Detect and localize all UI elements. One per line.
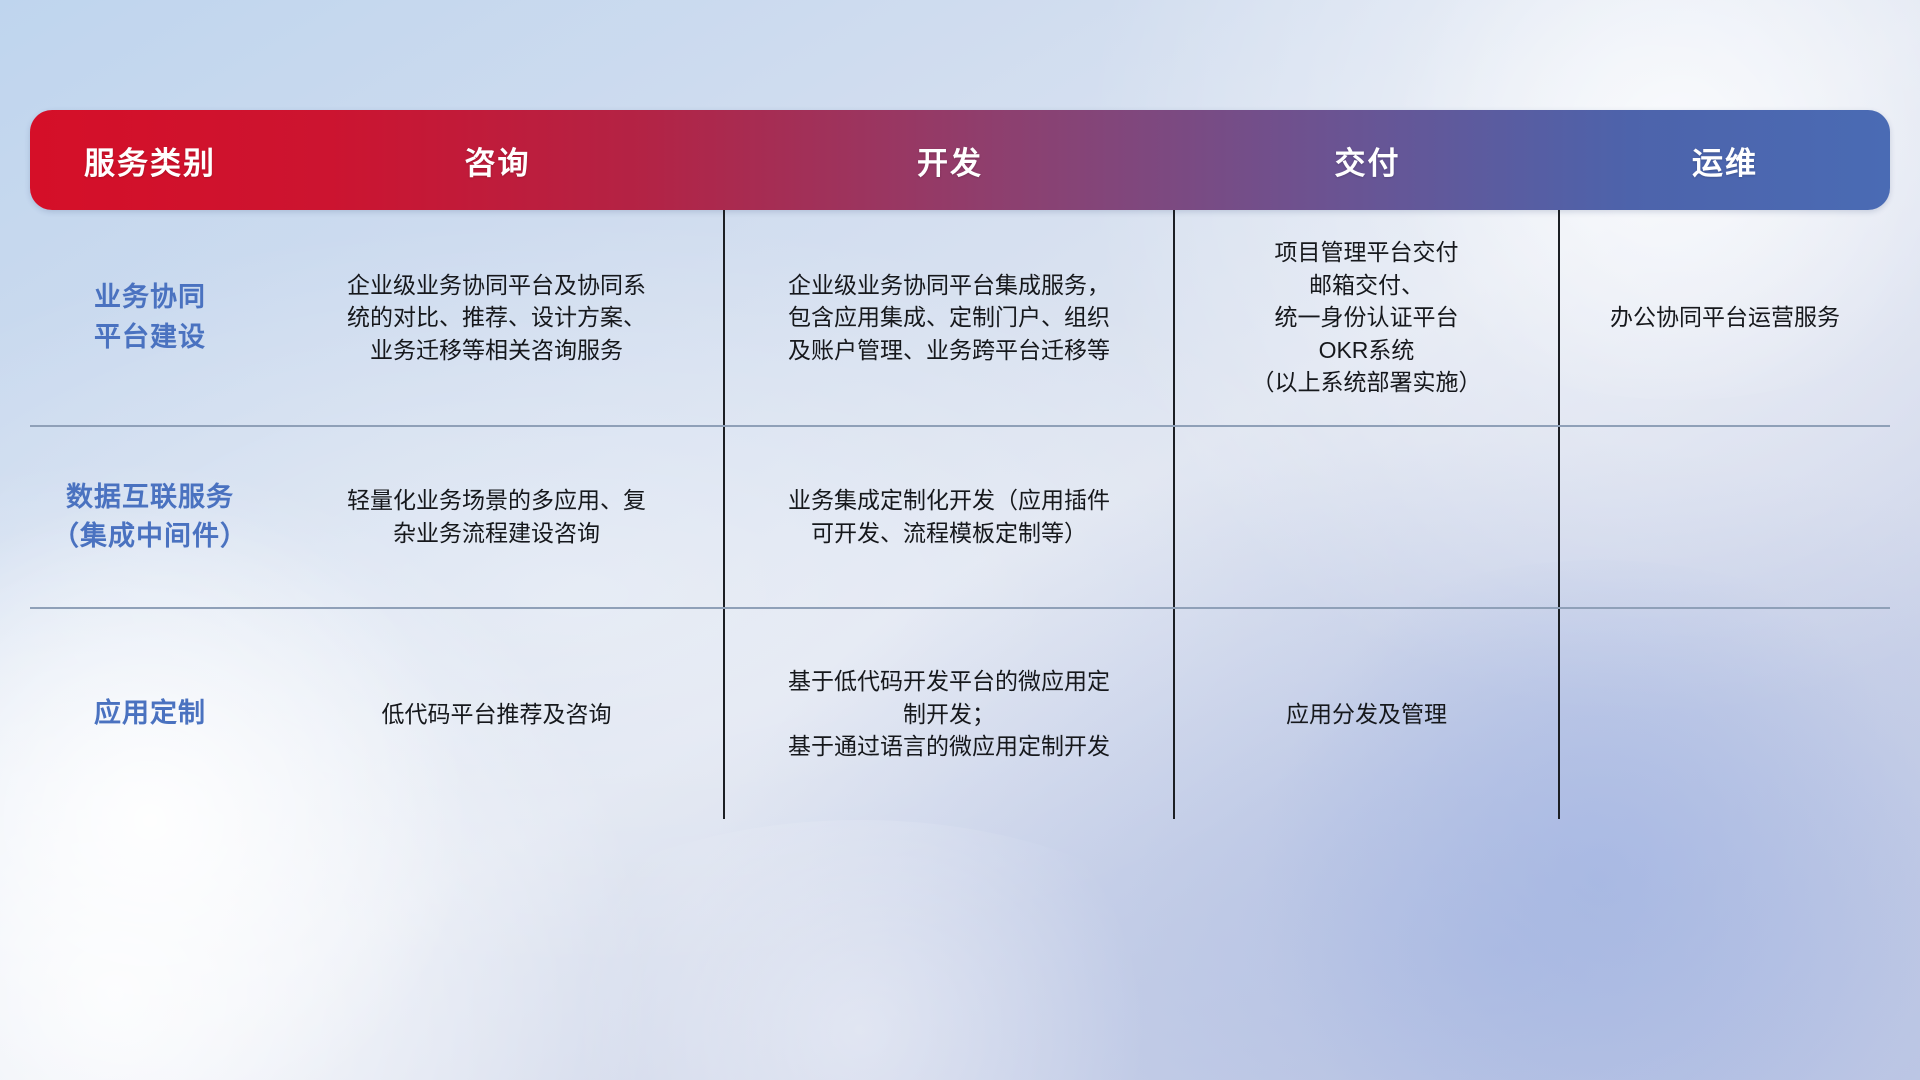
row-category-label: 应用定制 — [30, 609, 270, 819]
column-header-development: 开发 — [725, 110, 1175, 210]
cell-delivery: 项目管理平台交付 邮箱交付、 统一身份认证平台 OKR系统 （以上系统部署实施） — [1175, 210, 1560, 425]
row-category-label: 数据互联服务 （集成中间件） — [30, 427, 270, 607]
column-header-consulting: 咨询 — [270, 110, 725, 210]
cell-development: 业务集成定制化开发（应用插件 可开发、流程模板定制等） — [725, 427, 1175, 607]
table-row: 应用定制 低代码平台推荐及咨询 基于低代码开发平台的微应用定 制开发； 基于通过… — [30, 609, 1890, 819]
cell-consulting: 轻量化业务场景的多应用、复 杂业务流程建设咨询 — [270, 427, 725, 607]
cell-operations — [1560, 427, 1890, 607]
cell-development: 基于低代码开发平台的微应用定 制开发； 基于通过语言的微应用定制开发 — [725, 609, 1175, 819]
table-header-row: 服务类别 咨询 开发 交付 运维 — [30, 110, 1890, 210]
cell-consulting: 低代码平台推荐及咨询 — [270, 609, 725, 819]
cell-development: 企业级业务协同平台集成服务， 包含应用集成、定制门户、组织 及账户管理、业务跨平… — [725, 210, 1175, 425]
cell-delivery: 应用分发及管理 — [1175, 609, 1560, 819]
column-header-operations: 运维 — [1560, 110, 1890, 210]
row-category-label: 业务协同 平台建设 — [30, 210, 270, 425]
cell-consulting: 企业级业务协同平台及协同系 统的对比、推荐、设计方案、 业务迁移等相关咨询服务 — [270, 210, 725, 425]
slide-canvas: 服务类别 咨询 开发 交付 运维 业务协同 平台建设 企业级业务协同平台及协同系… — [0, 0, 1920, 1080]
cell-operations — [1560, 609, 1890, 819]
column-header-delivery: 交付 — [1175, 110, 1560, 210]
table-body: 业务协同 平台建设 企业级业务协同平台及协同系 统的对比、推荐、设计方案、 业务… — [30, 210, 1890, 819]
background-glow-bottom — [480, 820, 1240, 1080]
column-header-category: 服务类别 — [30, 110, 270, 210]
cell-operations: 办公协同平台运营服务 — [1560, 210, 1890, 425]
table-row: 数据互联服务 （集成中间件） 轻量化业务场景的多应用、复 杂业务流程建设咨询 业… — [30, 427, 1890, 609]
table-row: 业务协同 平台建设 企业级业务协同平台及协同系 统的对比、推荐、设计方案、 业务… — [30, 210, 1890, 427]
cell-delivery — [1175, 427, 1560, 607]
service-matrix-table: 服务类别 咨询 开发 交付 运维 业务协同 平台建设 企业级业务协同平台及协同系… — [30, 110, 1890, 819]
